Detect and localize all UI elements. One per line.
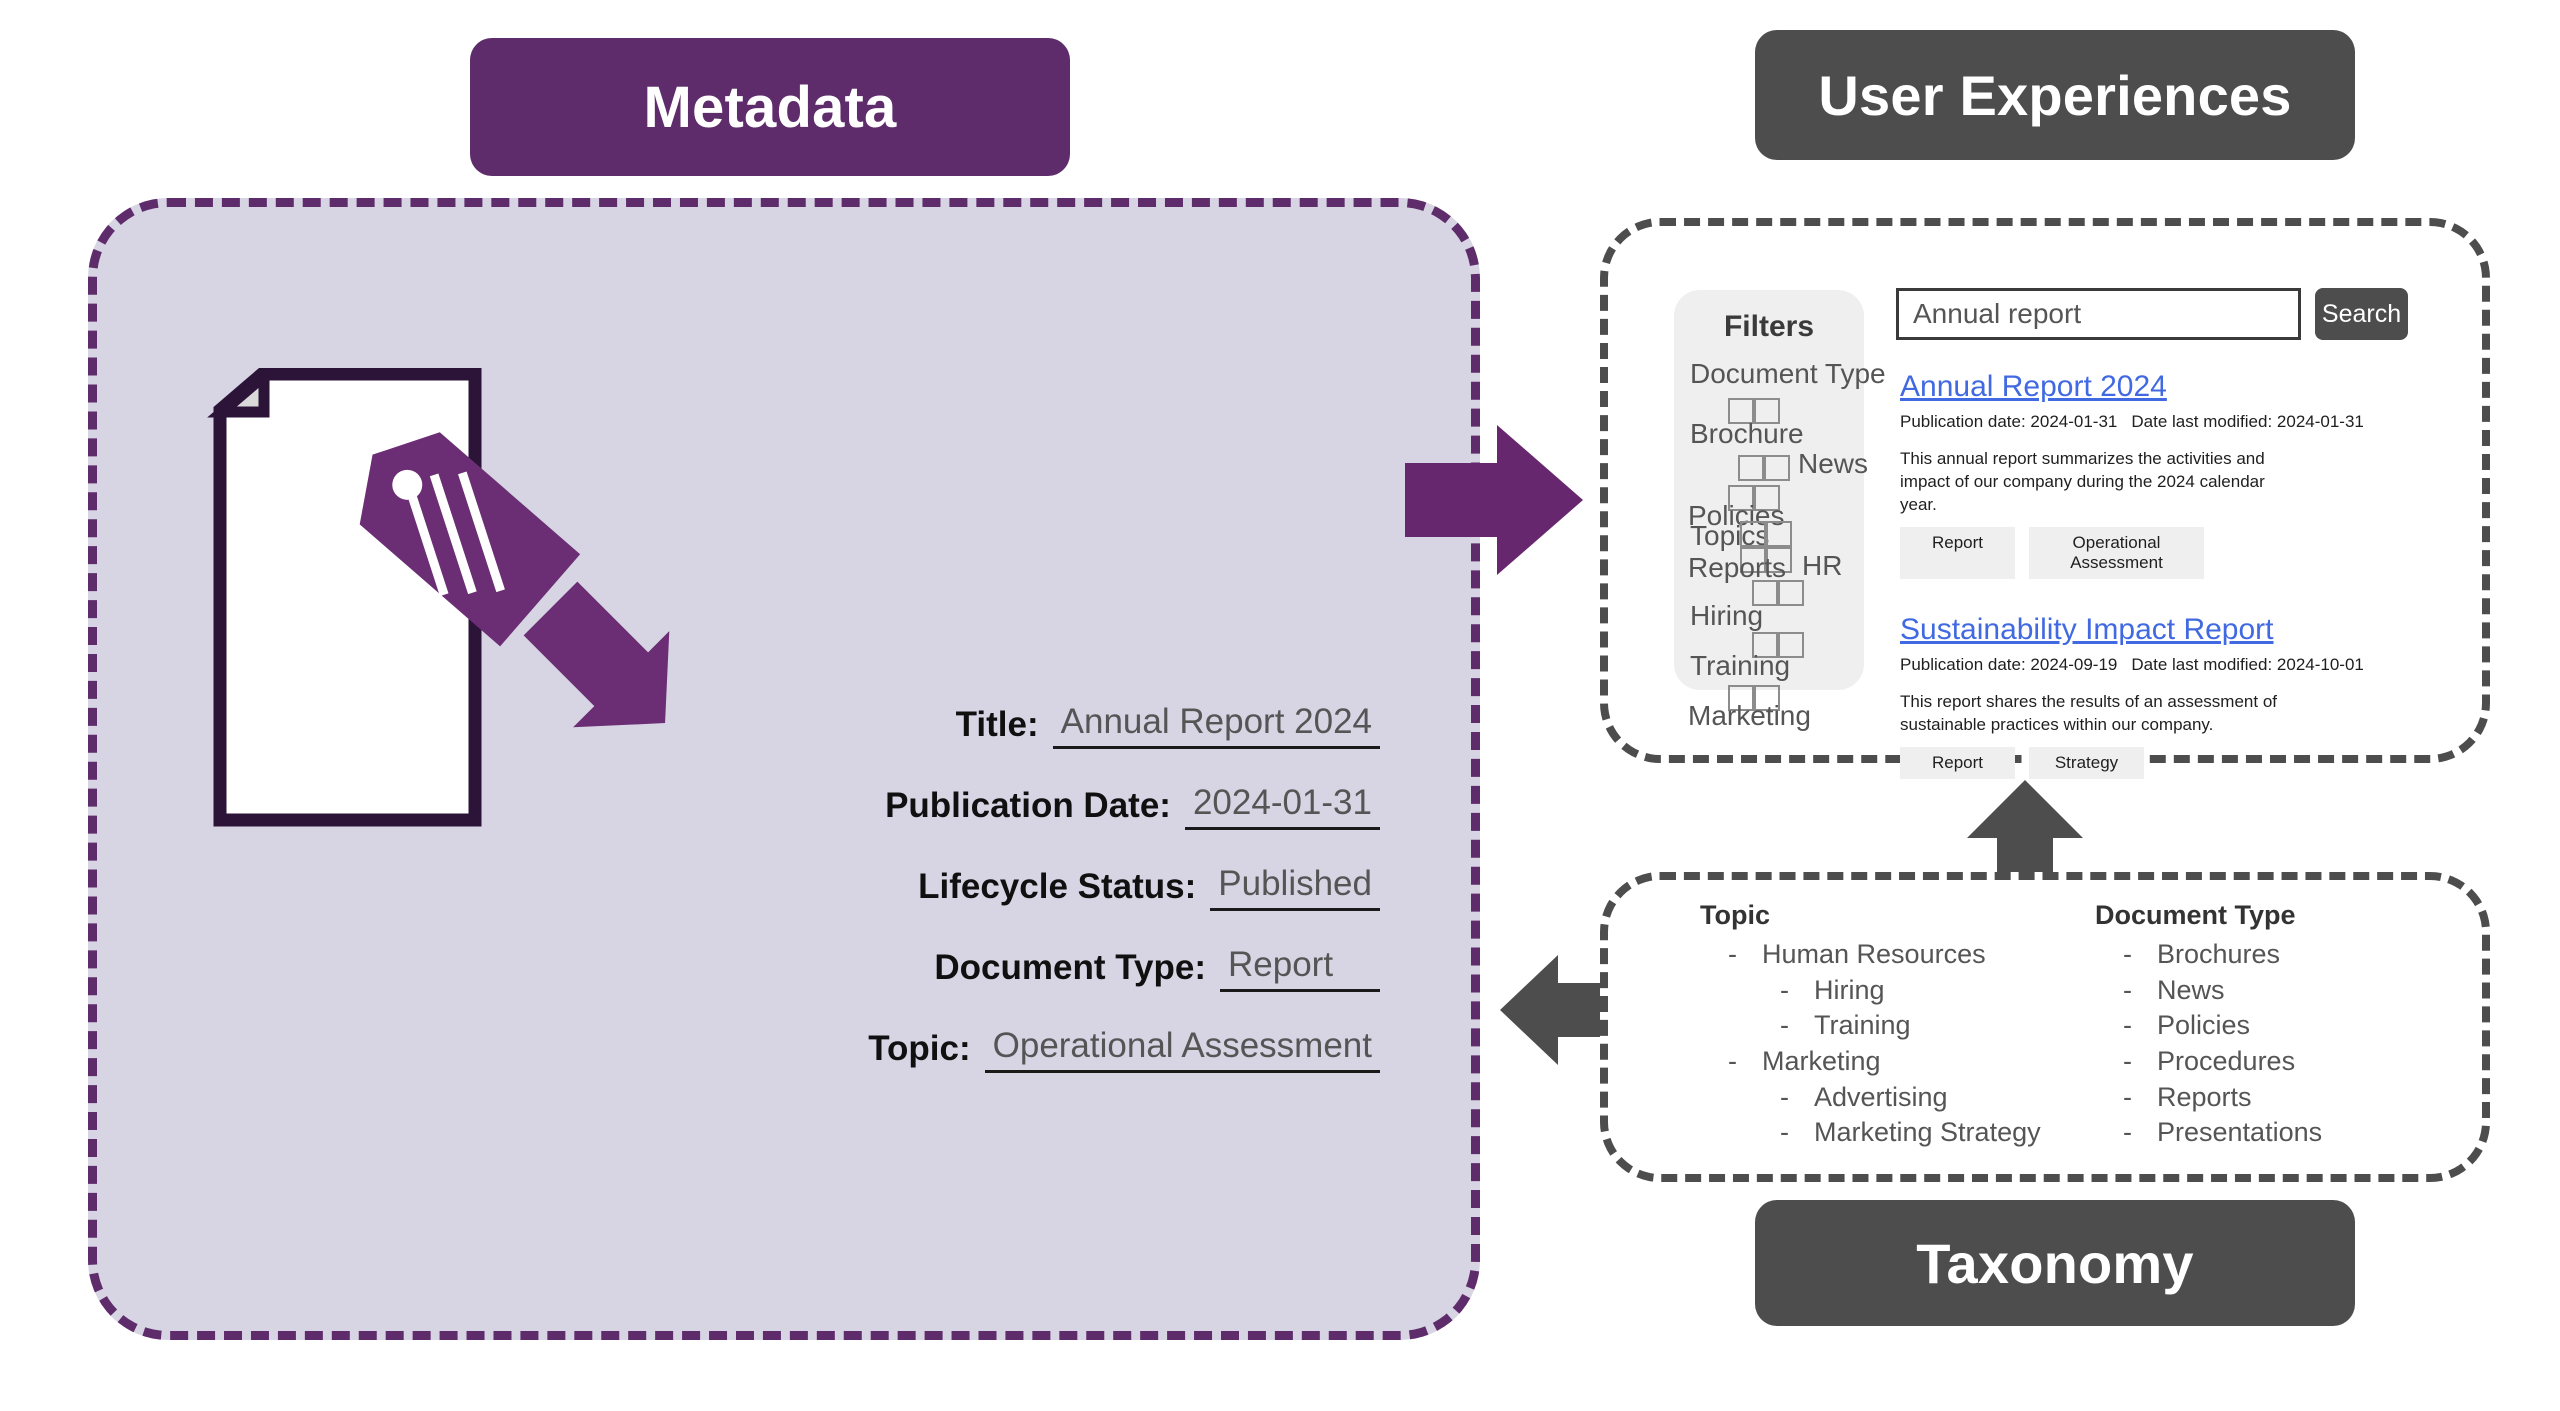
taxonomy-item-label: Advertising [1814, 1082, 1948, 1112]
field-label-topic: Topic: [868, 1029, 970, 1073]
result-description: This annual report summarizes the activi… [1900, 448, 2300, 517]
search-input[interactable]: Annual report [1896, 288, 2301, 340]
taxonomy-item-label: Training [1814, 1010, 1911, 1040]
result-title-link[interactable]: Annual Report 2024 [1900, 370, 2420, 404]
result-publication-date: Publication date: 2024-09-19 [1900, 655, 2117, 674]
result-description: This report shares the results of an ass… [1900, 691, 2300, 737]
result-tag[interactable]: Strategy [2029, 747, 2144, 779]
taxonomy-item[interactable]: -Marketing Strategy [1700, 1115, 2095, 1151]
field-label-publication-date: Publication Date: [885, 786, 1171, 830]
field-value-topic[interactable]: Operational Assessment [985, 1026, 1380, 1073]
metadata-row-publication-date: Publication Date: 2024-01-31 [660, 783, 1380, 830]
field-label-lifecycle-status: Lifecycle Status: [918, 867, 1196, 911]
taxonomy-heading: Document Type [2095, 900, 2490, 931]
metadata-fields: Title: Annual Report 2024 Publication Da… [660, 702, 1380, 1107]
result-publication-date: Publication date: 2024-01-31 [1900, 412, 2117, 431]
filter-label-document-type[interactable]: Document Type [1690, 358, 1886, 390]
taxonomy-item-label: Brochures [2157, 939, 2280, 969]
filter-label-marketing[interactable]: Marketing [1688, 700, 1811, 732]
taxonomy-column-document-type: Document Type -Brochures -News -Policies… [2095, 900, 2490, 1151]
filter-label-news[interactable]: News [1798, 448, 1868, 480]
taxonomy-item[interactable]: -Marketing [1700, 1044, 2095, 1080]
taxonomy-item-label: Hiring [1814, 975, 1885, 1005]
arrow-right-icon [1405, 425, 1585, 575]
taxonomy-item[interactable]: -Training [1700, 1008, 2095, 1044]
metadata-row-lifecycle-status: Lifecycle Status: Published [660, 864, 1380, 911]
result-modified-date: Date last modified: 2024-10-01 [2131, 655, 2363, 674]
result-tag[interactable]: Report [1900, 747, 2015, 779]
filter-checkbox-8[interactable] [1766, 521, 1792, 547]
taxonomy-item-label: Procedures [2157, 1046, 2295, 1076]
result-modified-date: Date last modified: 2024-01-31 [2131, 412, 2363, 431]
taxonomy-item[interactable]: -Procedures [2095, 1044, 2490, 1080]
filter-label-hiring[interactable]: Hiring [1690, 600, 1763, 632]
filter-checkbox-3[interactable] [1738, 455, 1764, 481]
taxonomy-item-label: Marketing [1762, 1046, 1881, 1076]
taxonomy-item-label: Policies [2157, 1010, 2250, 1040]
filter-label-hr[interactable]: HR [1802, 550, 1842, 582]
metadata-row-document-type: Document Type: Report [660, 945, 1380, 992]
taxonomy-column-topic: Topic -Human Resources -Hiring -Training… [1700, 900, 2095, 1151]
taxonomy-item[interactable]: -Reports [2095, 1080, 2490, 1116]
result-tag-row: Report Strategy [1900, 747, 2420, 779]
taxonomy-item[interactable]: -Brochures [2095, 937, 2490, 973]
badge-metadata: Metadata [470, 38, 1070, 176]
taxonomy-item[interactable]: -Hiring [1700, 973, 2095, 1009]
taxonomy-item-label: Marketing Strategy [1814, 1117, 2041, 1147]
diagram-canvas: Title: Annual Report 2024 Publication Da… [0, 0, 2560, 1411]
search-result-item: Sustainability Impact Report Publication… [1900, 613, 2420, 779]
result-title-link[interactable]: Sustainability Impact Report [1900, 613, 2420, 647]
badge-taxonomy: Taxonomy [1755, 1200, 2355, 1326]
search-results-list: Annual Report 2024 Publication date: 202… [1900, 370, 2420, 813]
taxonomy-item-label: Human Resources [1762, 939, 1986, 969]
filter-checkbox-4[interactable] [1764, 455, 1790, 481]
badge-user-experiences: User Experiences [1755, 30, 2355, 160]
field-value-title[interactable]: Annual Report 2024 [1053, 702, 1380, 749]
taxonomy-item[interactable]: -Advertising [1700, 1080, 2095, 1116]
filter-checkbox-7[interactable] [1740, 521, 1766, 547]
search-button[interactable]: Search [2315, 288, 2408, 340]
field-label-title: Title: [956, 705, 1039, 749]
metadata-row-topic: Topic: Operational Assessment [660, 1026, 1380, 1073]
taxonomy-item[interactable]: -News [2095, 973, 2490, 1009]
result-dates: Publication date: 2024-01-31Date last mo… [1900, 412, 2420, 432]
result-dates: Publication date: 2024-09-19Date last mo… [1900, 655, 2420, 675]
taxonomy-columns: Topic -Human Resources -Hiring -Training… [1700, 900, 2490, 1151]
result-tag-row: Report Operational Assessment [1900, 527, 2420, 579]
taxonomy-item-label: Reports [2157, 1082, 2252, 1112]
taxonomy-item[interactable]: -Policies [2095, 1008, 2490, 1044]
filter-checkbox-12[interactable] [1778, 580, 1804, 606]
taxonomy-heading: Topic [1700, 900, 2095, 931]
search-result-item: Annual Report 2024 Publication date: 202… [1900, 370, 2420, 579]
result-tag[interactable]: Operational Assessment [2029, 527, 2204, 579]
taxonomy-item-label: News [2157, 975, 2225, 1005]
filter-label-brochure[interactable]: Brochure [1690, 418, 1804, 450]
taxonomy-item-label: Presentations [2157, 1117, 2322, 1147]
taxonomy-item[interactable]: -Human Resources [1700, 937, 2095, 973]
field-value-document-type[interactable]: Report [1220, 945, 1380, 992]
field-value-publication-date[interactable]: 2024-01-31 [1185, 783, 1380, 830]
filter-label-training[interactable]: Training [1690, 650, 1790, 682]
metadata-row-title: Title: Annual Report 2024 [660, 702, 1380, 749]
result-tag[interactable]: Report [1900, 527, 2015, 579]
field-label-document-type: Document Type: [934, 948, 1206, 992]
field-value-lifecycle-status[interactable]: Published [1210, 864, 1380, 911]
filters-title: Filters [1674, 310, 1864, 344]
taxonomy-item[interactable]: -Presentations [2095, 1115, 2490, 1151]
